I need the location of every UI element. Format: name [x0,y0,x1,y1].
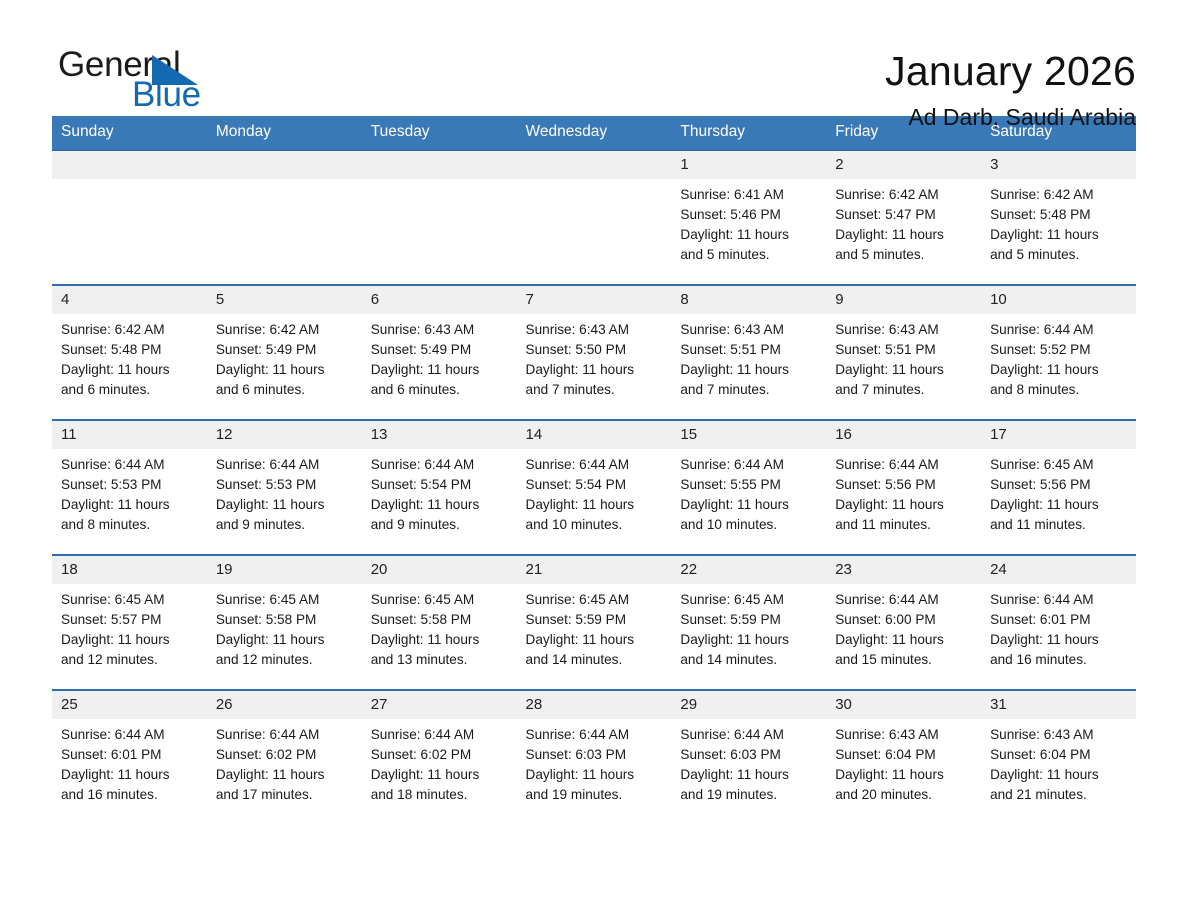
day-details [362,179,517,185]
day-number: 28 [517,691,672,719]
calendar-week-row: 11Sunrise: 6:44 AMSunset: 5:53 PMDayligh… [52,420,1136,555]
calendar-day-cell[interactable]: 18Sunrise: 6:45 AMSunset: 5:57 PMDayligh… [52,555,207,690]
daylight-duration-line2: and 14 minutes. [680,650,816,670]
title-block: January 2026 Ad Darb, Saudi Arabia [885,44,1136,132]
daylight-duration-line2: and 10 minutes. [526,515,662,535]
weekday-header-thursday: Thursday [671,116,826,150]
calendar-day-cell[interactable]: 10Sunrise: 6:44 AMSunset: 5:52 PMDayligh… [981,285,1136,420]
daylight-duration-line2: and 14 minutes. [526,650,662,670]
day-number: 15 [671,421,826,449]
daylight-duration-line2: and 6 minutes. [371,380,507,400]
day-number: 25 [52,691,207,719]
day-details: Sunrise: 6:42 AMSunset: 5:49 PMDaylight:… [207,314,362,400]
sunrise-time: Sunrise: 6:42 AM [61,320,197,340]
sunrise-time: Sunrise: 6:42 AM [990,185,1126,205]
calendar-day-cell[interactable]: 21Sunrise: 6:45 AMSunset: 5:59 PMDayligh… [517,555,672,690]
sunset-time: Sunset: 6:03 PM [680,745,816,765]
daylight-duration-line2: and 9 minutes. [371,515,507,535]
day-number: 14 [517,421,672,449]
sunrise-time: Sunrise: 6:43 AM [371,320,507,340]
sunset-time: Sunset: 5:51 PM [680,340,816,360]
sunrise-time: Sunrise: 6:43 AM [680,320,816,340]
calendar-day-cell[interactable]: 19Sunrise: 6:45 AMSunset: 5:58 PMDayligh… [207,555,362,690]
sunrise-time: Sunrise: 6:42 AM [216,320,352,340]
calendar-day-cell[interactable]: 22Sunrise: 6:45 AMSunset: 5:59 PMDayligh… [671,555,826,690]
daylight-duration-line1: Daylight: 11 hours [216,630,352,650]
day-details: Sunrise: 6:44 AMSunset: 6:02 PMDaylight:… [207,719,362,805]
day-details: Sunrise: 6:45 AMSunset: 5:56 PMDaylight:… [981,449,1136,535]
sunrise-time: Sunrise: 6:44 AM [990,590,1126,610]
day-details [52,179,207,185]
daylight-duration-line1: Daylight: 11 hours [216,765,352,785]
calendar-week-row: 1Sunrise: 6:41 AMSunset: 5:46 PMDaylight… [52,150,1136,285]
calendar-day-cell[interactable]: 9Sunrise: 6:43 AMSunset: 5:51 PMDaylight… [826,285,981,420]
daylight-duration-line1: Daylight: 11 hours [61,630,197,650]
day-number: 21 [517,556,672,584]
sunset-time: Sunset: 5:52 PM [990,340,1126,360]
sunset-time: Sunset: 5:53 PM [216,475,352,495]
day-number: 6 [362,286,517,314]
weekday-header-wednesday: Wednesday [517,116,672,150]
sunset-time: Sunset: 6:00 PM [835,610,971,630]
sunrise-time: Sunrise: 6:44 AM [526,725,662,745]
day-number: 18 [52,556,207,584]
daylight-duration-line1: Daylight: 11 hours [61,495,197,515]
day-number [207,151,362,179]
daylight-duration-line2: and 21 minutes. [990,785,1126,805]
page-title: January 2026 [885,46,1136,96]
day-number: 22 [671,556,826,584]
day-details: Sunrise: 6:44 AMSunset: 5:52 PMDaylight:… [981,314,1136,400]
daylight-duration-line2: and 16 minutes. [990,650,1126,670]
sunrise-time: Sunrise: 6:45 AM [680,590,816,610]
daylight-duration-line1: Daylight: 11 hours [835,765,971,785]
calendar-cell-empty [207,150,362,285]
daylight-duration-line2: and 7 minutes. [526,380,662,400]
daylight-duration-line2: and 5 minutes. [680,245,816,265]
sunset-time: Sunset: 5:54 PM [371,475,507,495]
day-number: 2 [826,151,981,179]
day-details: Sunrise: 6:41 AMSunset: 5:46 PMDaylight:… [671,179,826,265]
day-number: 24 [981,556,1136,584]
sunrise-time: Sunrise: 6:44 AM [526,455,662,475]
daylight-duration-line2: and 17 minutes. [216,785,352,805]
day-details: Sunrise: 6:42 AMSunset: 5:48 PMDaylight:… [981,179,1136,265]
sunset-time: Sunset: 6:01 PM [990,610,1126,630]
daylight-duration-line1: Daylight: 11 hours [371,495,507,515]
daylight-duration-line2: and 5 minutes. [990,245,1126,265]
calendar-day-cell[interactable]: 26Sunrise: 6:44 AMSunset: 6:02 PMDayligh… [207,690,362,825]
daylight-duration-line2: and 12 minutes. [216,650,352,670]
sunrise-time: Sunrise: 6:45 AM [526,590,662,610]
day-details: Sunrise: 6:44 AMSunset: 6:01 PMDaylight:… [52,719,207,805]
sunrise-time: Sunrise: 6:44 AM [835,455,971,475]
daylight-duration-line2: and 18 minutes. [371,785,507,805]
day-details: Sunrise: 6:44 AMSunset: 6:01 PMDaylight:… [981,584,1136,670]
weekday-header-monday: Monday [207,116,362,150]
sunset-time: Sunset: 5:57 PM [61,610,197,630]
daylight-duration-line1: Daylight: 11 hours [835,630,971,650]
daylight-duration-line1: Daylight: 11 hours [680,360,816,380]
calendar-day-cell[interactable]: 27Sunrise: 6:44 AMSunset: 6:02 PMDayligh… [362,690,517,825]
sunset-time: Sunset: 6:01 PM [61,745,197,765]
day-number: 17 [981,421,1136,449]
daylight-duration-line1: Daylight: 11 hours [371,630,507,650]
sunrise-time: Sunrise: 6:44 AM [216,725,352,745]
daylight-duration-line1: Daylight: 11 hours [680,630,816,650]
calendar-day-cell[interactable]: 5Sunrise: 6:42 AMSunset: 5:49 PMDaylight… [207,285,362,420]
day-details: Sunrise: 6:45 AMSunset: 5:59 PMDaylight:… [517,584,672,670]
sunset-time: Sunset: 6:02 PM [216,745,352,765]
sunset-time: Sunset: 5:58 PM [371,610,507,630]
daylight-duration-line2: and 16 minutes. [61,785,197,805]
calendar-day-cell[interactable]: 30Sunrise: 6:43 AMSunset: 6:04 PMDayligh… [826,690,981,825]
daylight-duration-line1: Daylight: 11 hours [680,765,816,785]
day-number: 9 [826,286,981,314]
sunrise-time: Sunrise: 6:44 AM [216,455,352,475]
day-number: 13 [362,421,517,449]
day-number: 1 [671,151,826,179]
day-number [517,151,672,179]
daylight-duration-line2: and 6 minutes. [61,380,197,400]
daylight-duration-line1: Daylight: 11 hours [680,225,816,245]
sunrise-time: Sunrise: 6:44 AM [680,725,816,745]
day-details: Sunrise: 6:44 AMSunset: 5:54 PMDaylight:… [362,449,517,535]
day-details: Sunrise: 6:44 AMSunset: 5:55 PMDaylight:… [671,449,826,535]
calendar-day-cell[interactable]: 7Sunrise: 6:43 AMSunset: 5:50 PMDaylight… [517,285,672,420]
weekday-header-sunday: Sunday [52,116,207,150]
calendar-week-row: 4Sunrise: 6:42 AMSunset: 5:48 PMDaylight… [52,285,1136,420]
calendar-day-cell[interactable]: 11Sunrise: 6:44 AMSunset: 5:53 PMDayligh… [52,420,207,555]
day-details: Sunrise: 6:42 AMSunset: 5:48 PMDaylight:… [52,314,207,400]
daylight-duration-line2: and 19 minutes. [680,785,816,805]
day-number: 26 [207,691,362,719]
day-number: 4 [52,286,207,314]
daylight-duration-line1: Daylight: 11 hours [990,765,1126,785]
calendar-day-cell[interactable]: 29Sunrise: 6:44 AMSunset: 6:03 PMDayligh… [671,690,826,825]
sunset-time: Sunset: 6:03 PM [526,745,662,765]
day-details: Sunrise: 6:44 AMSunset: 5:53 PMDaylight:… [207,449,362,535]
daylight-duration-line2: and 11 minutes. [990,515,1126,535]
day-details: Sunrise: 6:45 AMSunset: 5:59 PMDaylight:… [671,584,826,670]
sunset-time: Sunset: 6:02 PM [371,745,507,765]
sunset-time: Sunset: 5:56 PM [990,475,1126,495]
sunset-time: Sunset: 5:59 PM [526,610,662,630]
day-number: 7 [517,286,672,314]
day-number: 31 [981,691,1136,719]
calendar-day-cell[interactable]: 2Sunrise: 6:42 AMSunset: 5:47 PMDaylight… [826,150,981,285]
sunset-time: Sunset: 5:55 PM [680,475,816,495]
day-number: 3 [981,151,1136,179]
day-details: Sunrise: 6:45 AMSunset: 5:58 PMDaylight:… [362,584,517,670]
calendar-day-cell[interactable]: 8Sunrise: 6:43 AMSunset: 5:51 PMDaylight… [671,285,826,420]
sunset-time: Sunset: 5:50 PM [526,340,662,360]
daylight-duration-line1: Daylight: 11 hours [835,225,971,245]
day-number: 27 [362,691,517,719]
day-details: Sunrise: 6:43 AMSunset: 5:51 PMDaylight:… [826,314,981,400]
sunset-time: Sunset: 5:51 PM [835,340,971,360]
daylight-duration-line1: Daylight: 11 hours [835,495,971,515]
daylight-duration-line1: Daylight: 11 hours [61,765,197,785]
sunset-time: Sunset: 5:48 PM [990,205,1126,225]
day-number: 5 [207,286,362,314]
day-number: 16 [826,421,981,449]
calendar-day-cell[interactable]: 14Sunrise: 6:44 AMSunset: 5:54 PMDayligh… [517,420,672,555]
day-details: Sunrise: 6:44 AMSunset: 5:56 PMDaylight:… [826,449,981,535]
daylight-duration-line2: and 12 minutes. [61,650,197,670]
day-details: Sunrise: 6:45 AMSunset: 5:58 PMDaylight:… [207,584,362,670]
sunrise-time: Sunrise: 6:43 AM [835,725,971,745]
daylight-duration-line1: Daylight: 11 hours [526,630,662,650]
daylight-duration-line2: and 20 minutes. [835,785,971,805]
daylight-duration-line1: Daylight: 11 hours [526,495,662,515]
day-details: Sunrise: 6:43 AMSunset: 5:50 PMDaylight:… [517,314,672,400]
generalblue-logo[interactable]: General Blue [52,44,252,118]
day-number: 30 [826,691,981,719]
sunrise-time: Sunrise: 6:44 AM [61,455,197,475]
sunrise-time: Sunrise: 6:45 AM [61,590,197,610]
sunrise-time: Sunrise: 6:43 AM [990,725,1126,745]
sunset-time: Sunset: 5:56 PM [835,475,971,495]
day-details: Sunrise: 6:43 AMSunset: 5:49 PMDaylight:… [362,314,517,400]
calendar-day-cell[interactable]: 28Sunrise: 6:44 AMSunset: 6:03 PMDayligh… [517,690,672,825]
day-details: Sunrise: 6:45 AMSunset: 5:57 PMDaylight:… [52,584,207,670]
daylight-duration-line2: and 11 minutes. [835,515,971,535]
sunset-time: Sunset: 5:47 PM [835,205,971,225]
daylight-duration-line2: and 8 minutes. [990,380,1126,400]
day-number: 10 [981,286,1136,314]
day-number: 19 [207,556,362,584]
calendar-day-cell[interactable]: 31Sunrise: 6:43 AMSunset: 6:04 PMDayligh… [981,690,1136,825]
daylight-duration-line1: Daylight: 11 hours [371,765,507,785]
daylight-duration-line1: Daylight: 11 hours [990,495,1126,515]
sunset-time: Sunset: 5:59 PM [680,610,816,630]
calendar-day-cell[interactable]: 20Sunrise: 6:45 AMSunset: 5:58 PMDayligh… [362,555,517,690]
calendar-day-cell[interactable]: 17Sunrise: 6:45 AMSunset: 5:56 PMDayligh… [981,420,1136,555]
weekday-header-tuesday: Tuesday [362,116,517,150]
day-details: Sunrise: 6:42 AMSunset: 5:47 PMDaylight:… [826,179,981,265]
daylight-duration-line2: and 10 minutes. [680,515,816,535]
daylight-duration-line2: and 5 minutes. [835,245,971,265]
calendar-day-cell[interactable]: 12Sunrise: 6:44 AMSunset: 5:53 PMDayligh… [207,420,362,555]
day-details: Sunrise: 6:44 AMSunset: 6:03 PMDaylight:… [517,719,672,805]
calendar-table: SundayMondayTuesdayWednesdayThursdayFrid… [52,116,1136,825]
sunrise-time: Sunrise: 6:42 AM [835,185,971,205]
sunset-time: Sunset: 5:49 PM [216,340,352,360]
day-details: Sunrise: 6:43 AMSunset: 6:04 PMDaylight:… [981,719,1136,805]
sunrise-time: Sunrise: 6:44 AM [371,455,507,475]
day-details: Sunrise: 6:44 AMSunset: 6:00 PMDaylight:… [826,584,981,670]
sunset-time: Sunset: 5:53 PM [61,475,197,495]
day-details [517,179,672,185]
day-details: Sunrise: 6:44 AMSunset: 5:53 PMDaylight:… [52,449,207,535]
calendar-day-cell[interactable]: 6Sunrise: 6:43 AMSunset: 5:49 PMDaylight… [362,285,517,420]
calendar-day-cell[interactable]: 4Sunrise: 6:42 AMSunset: 5:48 PMDaylight… [52,285,207,420]
calendar-day-cell[interactable]: 16Sunrise: 6:44 AMSunset: 5:56 PMDayligh… [826,420,981,555]
daylight-duration-line2: and 9 minutes. [216,515,352,535]
sunrise-time: Sunrise: 6:44 AM [835,590,971,610]
daylight-duration-line1: Daylight: 11 hours [990,630,1126,650]
daylight-duration-line2: and 15 minutes. [835,650,971,670]
calendar-day-cell[interactable]: 24Sunrise: 6:44 AMSunset: 6:01 PMDayligh… [981,555,1136,690]
sunrise-time: Sunrise: 6:43 AM [835,320,971,340]
calendar-day-cell[interactable]: 25Sunrise: 6:44 AMSunset: 6:01 PMDayligh… [52,690,207,825]
daylight-duration-line1: Daylight: 11 hours [216,495,352,515]
daylight-duration-line1: Daylight: 11 hours [216,360,352,380]
day-number [52,151,207,179]
calendar-cell-empty [517,150,672,285]
day-details: Sunrise: 6:43 AMSunset: 6:04 PMDaylight:… [826,719,981,805]
page-header: General Blue January 2026 Ad Darb, Saudi… [52,0,1136,116]
calendar-week-row: 18Sunrise: 6:45 AMSunset: 5:57 PMDayligh… [52,555,1136,690]
sunrise-time: Sunrise: 6:43 AM [526,320,662,340]
day-number: 29 [671,691,826,719]
sunset-time: Sunset: 5:54 PM [526,475,662,495]
logo-text-blue: Blue [132,74,201,116]
calendar-cell-empty [52,150,207,285]
calendar-day-cell[interactable]: 23Sunrise: 6:44 AMSunset: 6:00 PMDayligh… [826,555,981,690]
day-number [362,151,517,179]
sunset-time: Sunset: 5:49 PM [371,340,507,360]
calendar-day-cell[interactable]: 15Sunrise: 6:44 AMSunset: 5:55 PMDayligh… [671,420,826,555]
daylight-duration-line1: Daylight: 11 hours [371,360,507,380]
daylight-duration-line2: and 13 minutes. [371,650,507,670]
daylight-duration-line1: Daylight: 11 hours [835,360,971,380]
calendar-cell-empty [362,150,517,285]
daylight-duration-line1: Daylight: 11 hours [680,495,816,515]
sunset-time: Sunset: 5:48 PM [61,340,197,360]
daylight-duration-line1: Daylight: 11 hours [990,360,1126,380]
sunrise-time: Sunrise: 6:44 AM [371,725,507,745]
daylight-duration-line1: Daylight: 11 hours [990,225,1126,245]
calendar-week-row: 25Sunrise: 6:44 AMSunset: 6:01 PMDayligh… [52,690,1136,825]
sunset-time: Sunset: 5:58 PM [216,610,352,630]
day-number: 11 [52,421,207,449]
day-details: Sunrise: 6:44 AMSunset: 6:03 PMDaylight:… [671,719,826,805]
sunrise-time: Sunrise: 6:44 AM [680,455,816,475]
daylight-duration-line2: and 7 minutes. [680,380,816,400]
sunrise-time: Sunrise: 6:41 AM [680,185,816,205]
sunrise-time: Sunrise: 6:45 AM [990,455,1126,475]
daylight-duration-line1: Daylight: 11 hours [526,360,662,380]
day-details: Sunrise: 6:44 AMSunset: 5:54 PMDaylight:… [517,449,672,535]
sunrise-time: Sunrise: 6:45 AM [216,590,352,610]
sunrise-time: Sunrise: 6:44 AM [61,725,197,745]
daylight-duration-line1: Daylight: 11 hours [526,765,662,785]
day-number: 12 [207,421,362,449]
day-number: 20 [362,556,517,584]
calendar-day-cell[interactable]: 1Sunrise: 6:41 AMSunset: 5:46 PMDaylight… [671,150,826,285]
day-details [207,179,362,185]
sunset-time: Sunset: 6:04 PM [835,745,971,765]
day-number: 23 [826,556,981,584]
calendar-page: General Blue January 2026 Ad Darb, Saudi… [0,0,1188,918]
daylight-duration-line2: and 6 minutes. [216,380,352,400]
calendar-day-cell[interactable]: 13Sunrise: 6:44 AMSunset: 5:54 PMDayligh… [362,420,517,555]
daylight-duration-line1: Daylight: 11 hours [61,360,197,380]
day-details: Sunrise: 6:43 AMSunset: 5:51 PMDaylight:… [671,314,826,400]
daylight-duration-line2: and 7 minutes. [835,380,971,400]
sunrise-time: Sunrise: 6:45 AM [371,590,507,610]
daylight-duration-line2: and 8 minutes. [61,515,197,535]
day-details: Sunrise: 6:44 AMSunset: 6:02 PMDaylight:… [362,719,517,805]
sunset-time: Sunset: 6:04 PM [990,745,1126,765]
day-number: 8 [671,286,826,314]
daylight-duration-line2: and 19 minutes. [526,785,662,805]
sunset-time: Sunset: 5:46 PM [680,205,816,225]
calendar-day-cell[interactable]: 3Sunrise: 6:42 AMSunset: 5:48 PMDaylight… [981,150,1136,285]
sunrise-time: Sunrise: 6:44 AM [990,320,1126,340]
